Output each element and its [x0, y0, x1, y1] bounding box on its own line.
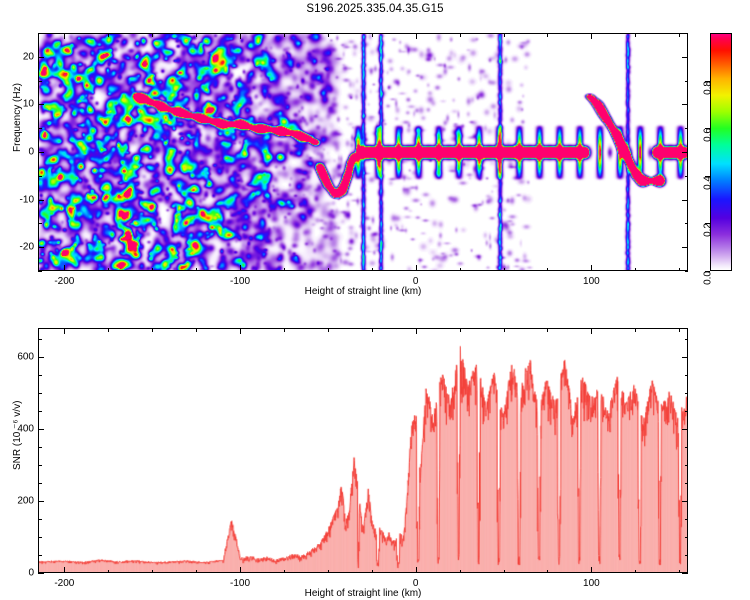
x-minor-tick	[108, 268, 109, 272]
y-minor-tick	[685, 176, 689, 177]
y-minor-tick	[38, 339, 42, 340]
y-minor-tick	[38, 555, 42, 556]
spectrogram-image	[39, 34, 687, 270]
y-tick	[682, 104, 688, 105]
x-tick	[591, 33, 592, 39]
y-minor-tick	[38, 519, 42, 520]
x-tick	[591, 328, 592, 334]
y-minor-tick	[685, 465, 689, 466]
x-tick	[64, 33, 65, 39]
x-minor-tick	[679, 570, 680, 574]
x-minor-tick	[152, 268, 153, 272]
x-minor-tick	[152, 328, 153, 332]
x-minor-tick	[635, 328, 636, 332]
colorbar-tick-label: 0.4	[703, 176, 714, 190]
y-tick	[682, 501, 688, 502]
x-minor-tick	[328, 328, 329, 332]
y-tick	[38, 104, 44, 105]
x-tick	[64, 328, 65, 334]
x-minor-tick	[152, 33, 153, 37]
y-tick	[38, 573, 44, 574]
y-minor-tick	[38, 176, 42, 177]
x-minor-tick	[504, 570, 505, 574]
x-minor-tick	[284, 328, 285, 332]
y-tick	[682, 200, 688, 201]
y-minor-tick	[38, 33, 42, 34]
x-minor-tick	[635, 268, 636, 272]
y-tick	[38, 429, 44, 430]
y-tick	[682, 573, 688, 574]
snr-x-axis-title: Height of straight line (km)	[305, 588, 422, 599]
colorbar: 0.00.20.40.60.8 Normalized spectral ampl…	[710, 33, 732, 271]
y-tick	[38, 200, 44, 201]
x-tick-label: 100	[583, 276, 600, 287]
x-minor-tick	[284, 268, 285, 272]
x-minor-tick	[460, 328, 461, 332]
x-tick	[591, 567, 592, 573]
y-minor-tick	[38, 375, 42, 376]
y-minor-tick	[38, 483, 42, 484]
y-tick	[38, 247, 44, 248]
colorbar-tick-label: 0.8	[703, 81, 714, 95]
x-tick	[64, 567, 65, 573]
x-minor-tick	[635, 570, 636, 574]
spectrogram-plot-area[interactable]	[38, 33, 688, 271]
y-tick	[38, 152, 44, 153]
x-minor-tick	[372, 328, 373, 332]
x-minor-tick	[372, 268, 373, 272]
y-minor-tick	[38, 393, 42, 394]
colorbar-tick-label: 0.6	[703, 128, 714, 142]
snr-y-axis-title: SNR (10 ⁻⁶ v/v)	[12, 401, 23, 470]
y-minor-tick	[38, 271, 42, 272]
y-minor-tick	[685, 271, 689, 272]
x-tick	[240, 328, 241, 334]
y-tick	[682, 57, 688, 58]
x-minor-tick	[635, 33, 636, 37]
y-minor-tick	[685, 555, 689, 556]
y-minor-tick	[685, 411, 689, 412]
y-tick-label: -10	[10, 194, 34, 205]
x-minor-tick	[108, 33, 109, 37]
y-tick	[38, 501, 44, 502]
y-minor-tick	[38, 81, 42, 82]
x-tick-label: -200	[54, 276, 74, 287]
y-tick-label: -20	[10, 242, 34, 253]
x-minor-tick	[460, 268, 461, 272]
x-minor-tick	[108, 570, 109, 574]
x-minor-tick	[328, 570, 329, 574]
x-minor-tick	[547, 570, 548, 574]
y-minor-tick	[38, 223, 42, 224]
x-tick	[416, 33, 417, 39]
y-minor-tick	[685, 537, 689, 538]
colorbar-tick-label: 0.0	[703, 271, 714, 285]
figure-root: S196.2025.335.04.35.G15 -200-10001002010…	[0, 0, 750, 600]
x-minor-tick	[196, 328, 197, 332]
y-minor-tick	[685, 519, 689, 520]
x-minor-tick	[328, 33, 329, 37]
y-tick	[38, 357, 44, 358]
x-tick	[591, 265, 592, 271]
y-minor-tick	[685, 128, 689, 129]
y-tick	[38, 57, 44, 58]
snr-plot-area[interactable]	[38, 328, 688, 573]
x-minor-tick	[460, 33, 461, 37]
y-minor-tick	[685, 483, 689, 484]
x-tick	[416, 567, 417, 573]
x-minor-tick	[284, 33, 285, 37]
x-tick	[64, 265, 65, 271]
snr-trace	[39, 329, 687, 572]
y-minor-tick	[685, 339, 689, 340]
x-minor-tick	[547, 328, 548, 332]
figure-title: S196.2025.335.04.35.G15	[0, 3, 750, 15]
y-tick-label: 600	[10, 351, 34, 362]
y-tick	[682, 429, 688, 430]
x-minor-tick	[504, 268, 505, 272]
x-tick	[240, 33, 241, 39]
spectrogram-x-axis-title: Height of straight line (km)	[305, 286, 422, 297]
x-minor-tick	[504, 33, 505, 37]
y-minor-tick	[685, 375, 689, 376]
y-tick-label: 200	[10, 495, 34, 506]
x-tick-label: -100	[230, 276, 250, 287]
x-minor-tick	[196, 268, 197, 272]
x-tick	[416, 265, 417, 271]
x-minor-tick	[196, 33, 197, 37]
x-tick-label: -100	[230, 578, 250, 589]
y-minor-tick	[38, 447, 42, 448]
x-minor-tick	[372, 33, 373, 37]
x-minor-tick	[679, 268, 680, 272]
y-tick	[682, 247, 688, 248]
x-tick	[240, 567, 241, 573]
colorbar-tick-label: 0.2	[703, 223, 714, 237]
spectrogram-y-axis-title: Frequency (Hz)	[12, 83, 23, 152]
x-minor-tick	[372, 570, 373, 574]
x-minor-tick	[547, 33, 548, 37]
y-minor-tick	[685, 33, 689, 34]
y-minor-tick	[38, 128, 42, 129]
x-minor-tick	[152, 570, 153, 574]
x-minor-tick	[679, 33, 680, 37]
y-minor-tick	[685, 81, 689, 82]
y-tick-label: 0	[10, 568, 34, 579]
y-minor-tick	[685, 447, 689, 448]
x-minor-tick	[547, 268, 548, 272]
y-minor-tick	[38, 411, 42, 412]
x-minor-tick	[284, 570, 285, 574]
x-minor-tick	[196, 570, 197, 574]
x-minor-tick	[679, 328, 680, 332]
x-tick	[240, 265, 241, 271]
x-tick-label: 100	[583, 578, 600, 589]
x-minor-tick	[108, 328, 109, 332]
y-minor-tick	[685, 393, 689, 394]
y-tick-label: 20	[10, 51, 34, 62]
y-minor-tick	[38, 465, 42, 466]
x-minor-tick	[460, 570, 461, 574]
y-tick	[682, 357, 688, 358]
x-minor-tick	[328, 268, 329, 272]
x-tick	[416, 328, 417, 334]
y-tick	[682, 152, 688, 153]
y-minor-tick	[38, 537, 42, 538]
x-minor-tick	[504, 328, 505, 332]
y-minor-tick	[685, 223, 689, 224]
x-tick-label: -200	[54, 578, 74, 589]
